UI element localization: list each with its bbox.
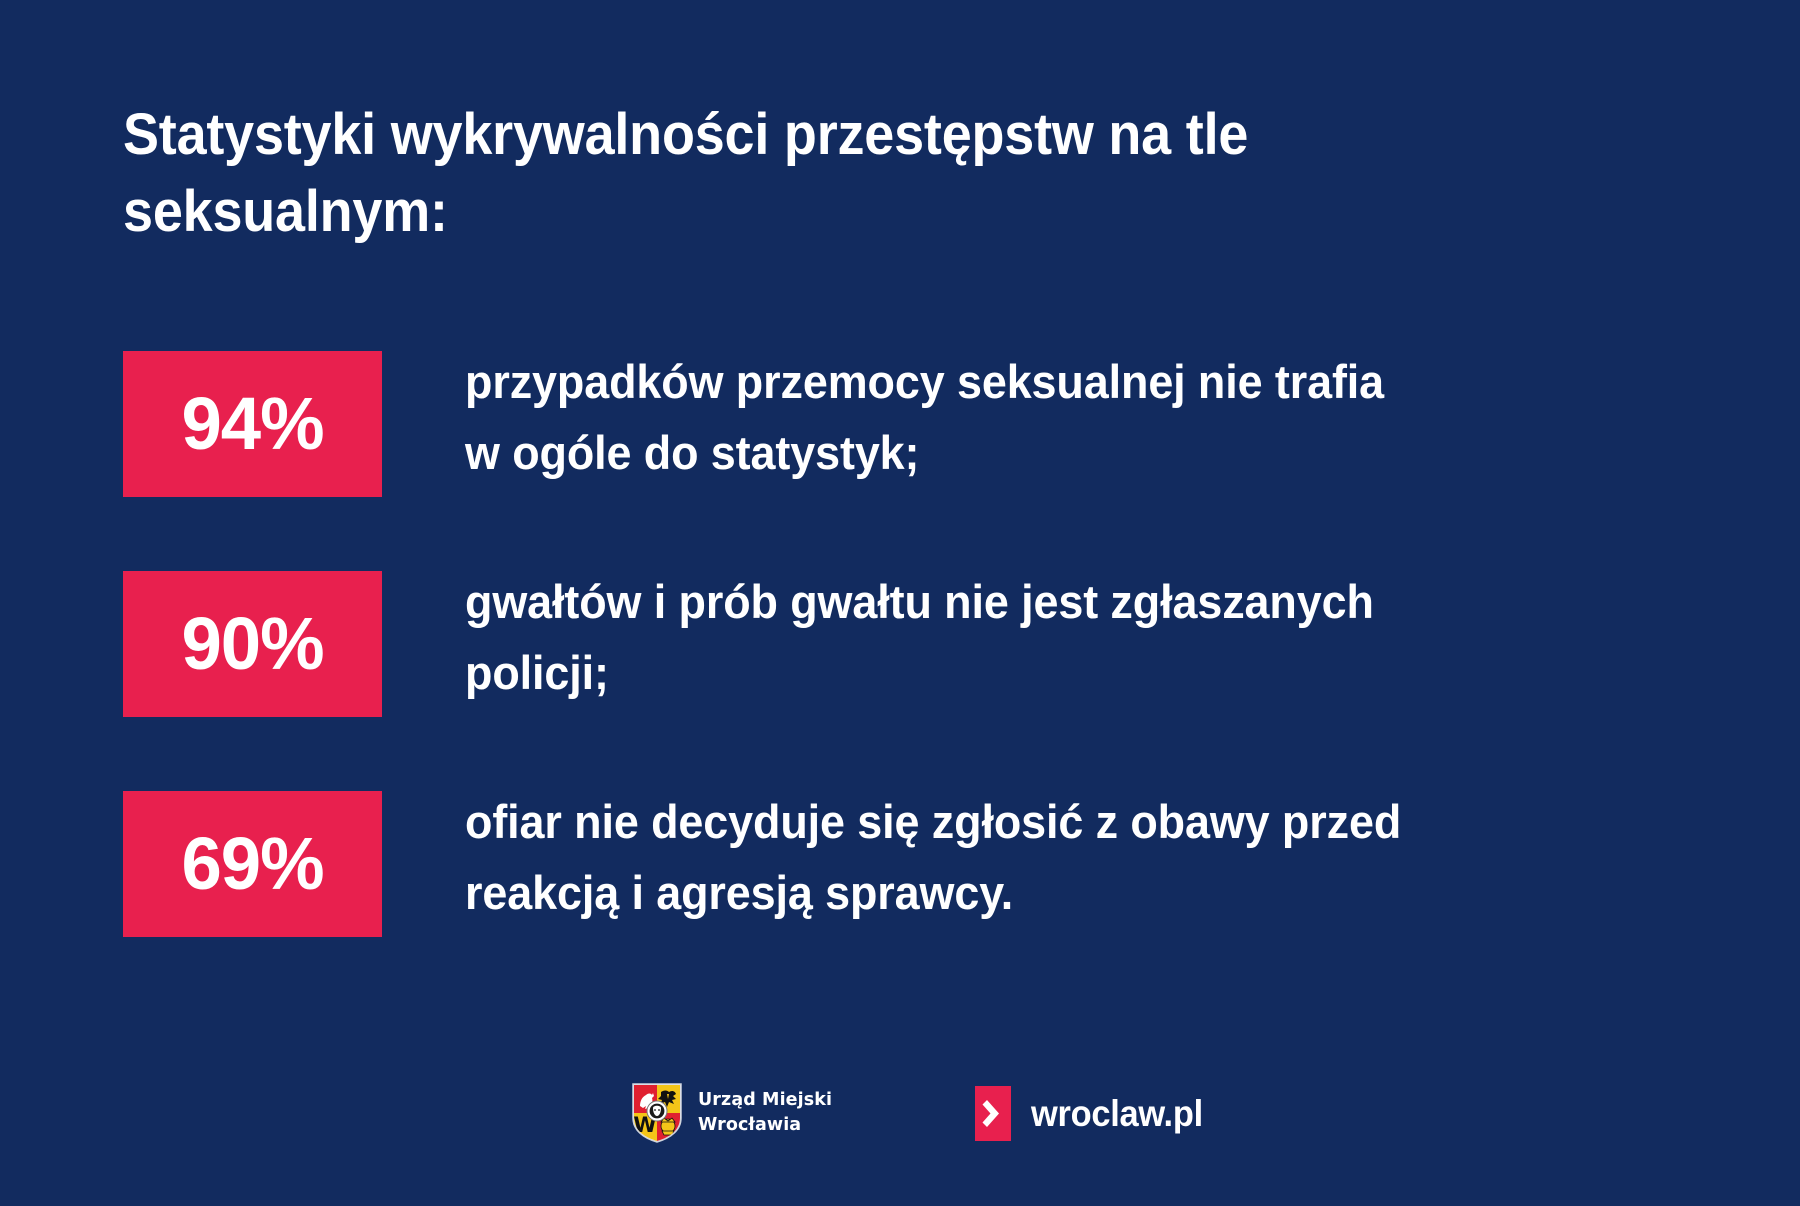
stat-percentage: 90% — [181, 607, 323, 681]
wroclaw-pl-label: wroclaw.pl — [1031, 1095, 1203, 1132]
infographic-canvas: Statystyki wykrywalności przestępstw na … — [0, 0, 1800, 1206]
stat-row: 69% ofiar nie decyduje się zgłosić z oba… — [0, 791, 1800, 1011]
stat-badge: 90% — [123, 571, 382, 717]
city-office-logo: W Urząd Miejski Wrocławia — [631, 1082, 832, 1144]
stat-description: ofiar nie decyduje się zgłosić z obawy p… — [465, 786, 1525, 929]
stat-badge: 69% — [123, 791, 382, 937]
stat-badge: 94% — [123, 351, 382, 497]
wroclaw-coat-of-arms-icon: W — [631, 1082, 683, 1144]
page-title: Statystyki wykrywalności przestępstw na … — [123, 96, 1360, 250]
stat-percentage: 94% — [181, 387, 323, 461]
wroclaw-pl-logo[interactable]: wroclaw.pl — [975, 1086, 1216, 1141]
stat-description: gwałtów i prób gwałtu nie jest zgłaszany… — [465, 566, 1525, 709]
chevron-right-icon — [975, 1086, 1011, 1141]
statistics-list: 94% przypadków przemocy seksualnej nie t… — [0, 351, 1800, 1011]
footer: W Urząd Miejski Wrocławia — [0, 1076, 1800, 1166]
stat-row: 90% gwałtów i prób gwałtu nie jest zgłas… — [0, 571, 1800, 791]
stat-description: przypadków przemocy seksualnej nie trafi… — [465, 346, 1525, 489]
city-office-label: Urząd Miejski Wrocławia — [698, 1088, 832, 1138]
stat-row: 94% przypadków przemocy seksualnej nie t… — [0, 351, 1800, 571]
stat-percentage: 69% — [181, 827, 323, 901]
